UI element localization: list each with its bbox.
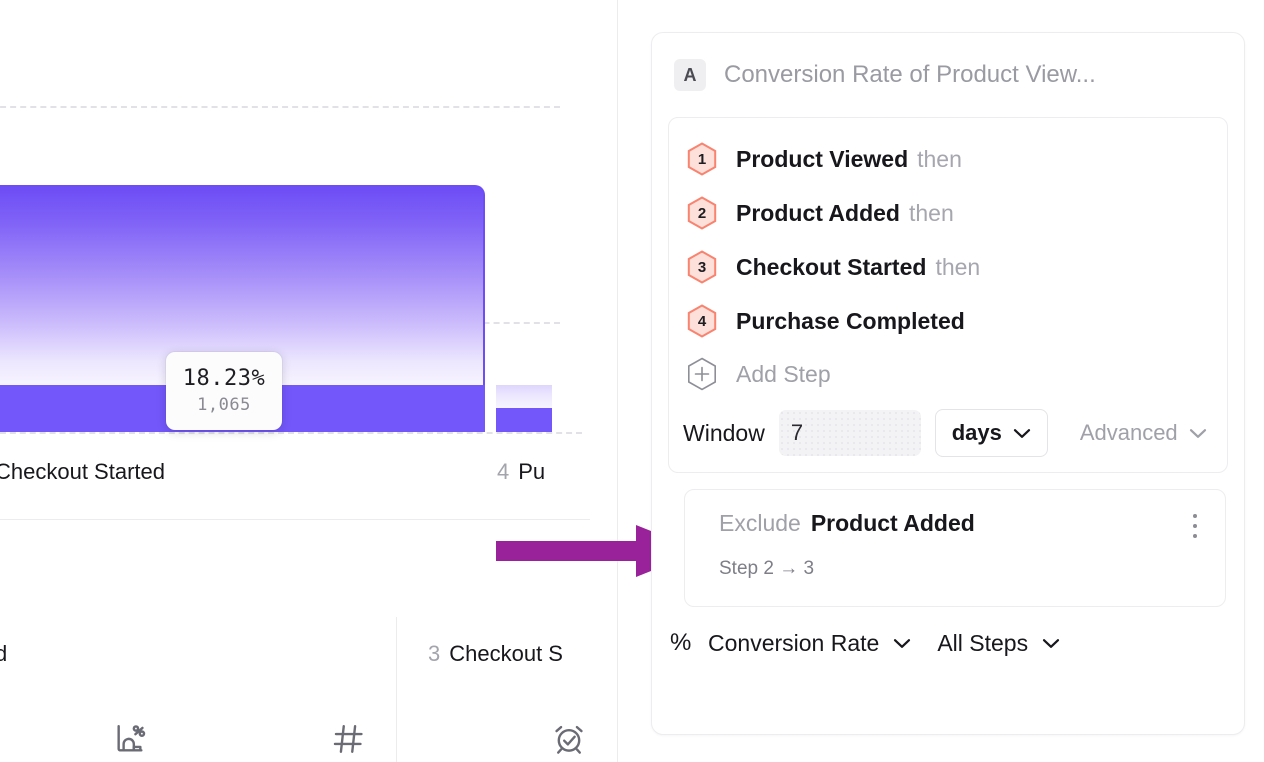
- exclude-prefix-label: Exclude: [719, 510, 801, 537]
- advanced-toggle[interactable]: Advanced: [1080, 420, 1207, 446]
- step-connector: then: [935, 254, 980, 280]
- step-event-name: Purchase Completed: [736, 308, 965, 334]
- step-label: Checkout Startedthen: [736, 254, 980, 281]
- bottom-label-right: 3Checkout S: [428, 641, 563, 667]
- funnel-steps-card: 1 Product Viewedthen 2 Product Addedthen: [668, 117, 1228, 473]
- step-number-hex-icon: 4: [687, 304, 717, 338]
- step-event-name: Product Viewed: [736, 146, 908, 172]
- bottom-name: Checkout S: [449, 641, 563, 666]
- step-connector: then: [917, 146, 962, 172]
- exclude-step-range: Step 2 → 3: [719, 558, 1209, 580]
- funnel-step-2[interactable]: 2 Product Addedthen: [669, 186, 1227, 240]
- funnel-percent-icon[interactable]: [108, 717, 152, 761]
- bottom-name: d: [0, 641, 7, 666]
- gridline: [0, 432, 582, 434]
- plus-hex-icon: [687, 357, 717, 391]
- step-label: Product Viewedthen: [736, 146, 962, 173]
- step-number: 3: [687, 250, 717, 284]
- step-label: Purchase Completed: [736, 308, 974, 335]
- funnel-step-3[interactable]: 3 Checkout Startedthen: [669, 240, 1227, 294]
- series-letter-badge: A: [674, 59, 706, 91]
- window-unit-value: days: [952, 420, 1002, 446]
- funnel-step-4[interactable]: 4 Purchase Completed: [669, 294, 1227, 348]
- funnel-chart-region: 18.23% 1,065 Checkout Started 4Pu d 3Che…: [0, 0, 618, 762]
- tooltip-count: 1,065: [197, 395, 251, 415]
- metric-type-select[interactable]: Conversion Rate: [708, 630, 879, 657]
- window-label: Window: [683, 420, 765, 447]
- advanced-label: Advanced: [1080, 420, 1178, 446]
- window-unit-select[interactable]: days: [935, 409, 1048, 457]
- x-axis-label-purchase-completed: 4Pu: [497, 459, 545, 485]
- bottom-column-divider: [396, 617, 397, 762]
- panel-title[interactable]: Conversion Rate of Product View...: [724, 61, 1096, 89]
- alarm-check-icon[interactable]: [547, 717, 591, 761]
- percent-icon: %: [670, 629, 704, 657]
- step-event-name: Product Added: [736, 200, 900, 226]
- add-step-button[interactable]: Add Step: [669, 348, 1227, 400]
- window-value-input[interactable]: [779, 410, 921, 456]
- chart-section-divider: [0, 519, 590, 520]
- x-axis-name: Checkout Started: [0, 459, 165, 484]
- chevron-down-icon: [1189, 428, 1207, 439]
- gridline: [0, 106, 560, 108]
- x-axis-label-checkout-started: Checkout Started: [0, 459, 165, 485]
- metric-selector-row: % Conversion Rate All Steps: [652, 607, 1244, 657]
- step-number: 2: [687, 196, 717, 230]
- x-axis-name: Pu: [518, 459, 545, 484]
- step-number-hex-icon: 2: [687, 196, 717, 230]
- chevron-down-icon[interactable]: [1042, 638, 1060, 649]
- funnel-definition-panel: A Conversion Rate of Product View... 1 P…: [651, 32, 1245, 735]
- chevron-down-icon[interactable]: [893, 638, 911, 649]
- chart-tooltip: 18.23% 1,065: [166, 352, 282, 430]
- hash-icon[interactable]: [326, 717, 370, 761]
- exclude-event-name: Product Added: [811, 510, 975, 537]
- step-number: 1: [687, 142, 717, 176]
- metric-scope-select[interactable]: All Steps: [937, 630, 1028, 657]
- conversion-window-row: Window days Advanced: [669, 400, 1227, 462]
- app-root: 18.23% 1,065 Checkout Started 4Pu d 3Che…: [0, 0, 1264, 762]
- bottom-label-left: d: [0, 641, 7, 667]
- step-number: 4: [687, 304, 717, 338]
- funnel-step-1[interactable]: 1 Product Viewedthen: [669, 132, 1227, 186]
- step-number-hex-icon: 3: [687, 250, 717, 284]
- bottom-index: 3: [428, 641, 440, 666]
- tooltip-percent: 18.23%: [183, 367, 265, 391]
- step-event-name: Checkout Started: [736, 254, 926, 280]
- funnel-bar-purchase-completed[interactable]: [496, 385, 552, 408]
- panel-header: A Conversion Rate of Product View...: [652, 33, 1244, 117]
- vertical-page-divider: [617, 0, 618, 762]
- chevron-down-icon: [1013, 428, 1031, 439]
- exclude-rule-card[interactable]: Exclude Product Added Step 2 → 3: [684, 489, 1226, 607]
- more-options-icon[interactable]: [1185, 514, 1205, 538]
- exclude-rule-header: Exclude Product Added: [719, 490, 1209, 556]
- step-connector: then: [909, 200, 954, 226]
- add-step-label: Add Step: [736, 361, 831, 388]
- step-label: Product Addedthen: [736, 200, 954, 227]
- funnel-bar-purchase-completed-base[interactable]: [496, 408, 552, 432]
- x-axis-index: 4: [497, 459, 509, 484]
- step-number-hex-icon: 1: [687, 142, 717, 176]
